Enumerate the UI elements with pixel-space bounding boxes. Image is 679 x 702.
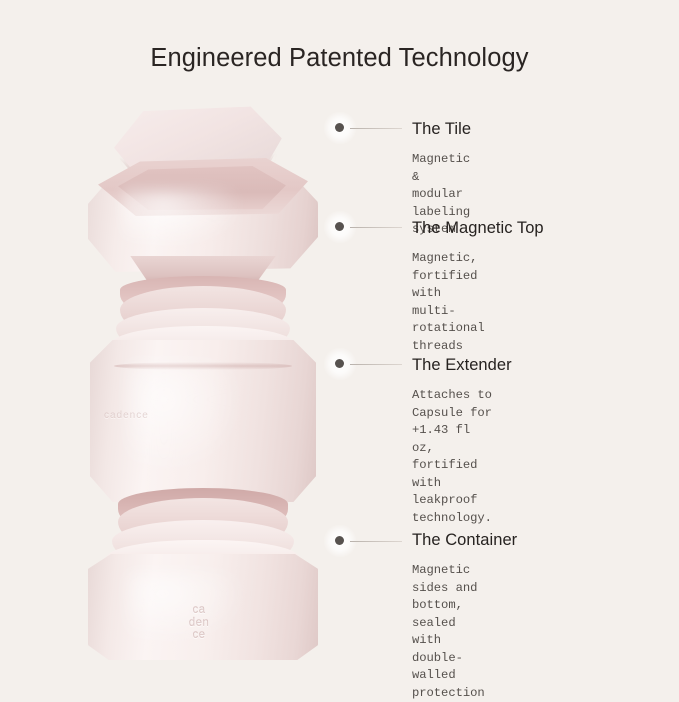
callout-description-container: Magnetic sides and bottom, sealed with d… — [412, 562, 485, 702]
brand-logo-line-1: ca — [164, 604, 234, 617]
callout-title-magnetic-top: The Magnetic Top — [412, 219, 544, 238]
brand-logo-line-3: ce — [164, 629, 234, 642]
callout-leader-line — [350, 541, 402, 542]
brand-logo-emboss: ca den ce — [164, 604, 234, 642]
callout-description-extender: Attaches to Capsule for +1.43 fl oz, for… — [412, 387, 492, 527]
callout-title-container: The Container — [412, 531, 517, 550]
brand-logo-line-2: den — [164, 617, 234, 630]
callout-description-magnetic-top: Magnetic, fortified with multi-rotationa… — [412, 250, 485, 355]
magnetic-top-highlight — [122, 188, 242, 248]
product-part-container: ca den ce — [88, 498, 318, 660]
callout-dot-marker — [335, 123, 344, 132]
callout-leader-line — [350, 364, 402, 365]
callout-dot-marker — [335, 222, 344, 231]
callout-leader-line — [350, 128, 402, 129]
page-title: Engineered Patented Technology — [0, 44, 679, 73]
product-part-extender: cadence — [90, 286, 316, 502]
callout-title-tile: The Tile — [412, 120, 471, 139]
callout-title-extender: The Extender — [412, 356, 512, 375]
extender-emboss-text: cadence — [104, 410, 160, 432]
callout-dot-marker — [335, 536, 344, 545]
callout-leader-line — [350, 227, 402, 228]
product-feature-diagram: Engineered Patented Technology — [0, 0, 679, 679]
product-part-magnetic-top — [88, 158, 318, 274]
product-illustration: cadence ca den ce — [88, 100, 318, 660]
callout-dot-marker — [335, 359, 344, 368]
